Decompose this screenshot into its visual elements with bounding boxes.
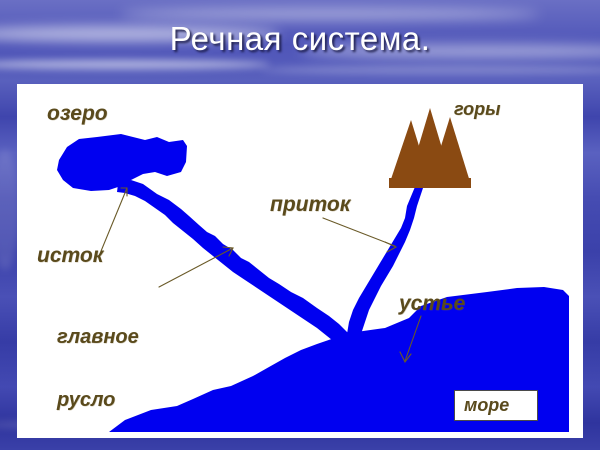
label-glavnoe-ruslo: главное русло xyxy=(57,285,139,438)
label-ustye: устье xyxy=(399,293,465,315)
label-pritok: приток xyxy=(270,194,350,216)
slide-title: Речная система. xyxy=(0,20,600,58)
label-gory: горы xyxy=(454,100,501,119)
cloud-streak-2 xyxy=(120,8,540,20)
arrow-pritok xyxy=(323,218,396,252)
label-ozero: озеро xyxy=(47,103,108,125)
label-more-box: море xyxy=(454,390,538,421)
label-glavnoe-ruslo-line2: русло xyxy=(57,390,139,411)
label-more: море xyxy=(464,395,509,416)
label-glavnoe-ruslo-line1: главное xyxy=(57,327,139,348)
diagram-panel: озеро исток главное русло приток горы ус… xyxy=(17,84,583,438)
cloud-streak-5 xyxy=(260,66,600,74)
lake-shape xyxy=(57,134,187,191)
cloud-streak-4 xyxy=(0,60,270,69)
slide-canvas: Речная система. xyxy=(0,0,600,450)
mountains-shape xyxy=(389,108,471,188)
label-istok: исток xyxy=(37,245,103,267)
